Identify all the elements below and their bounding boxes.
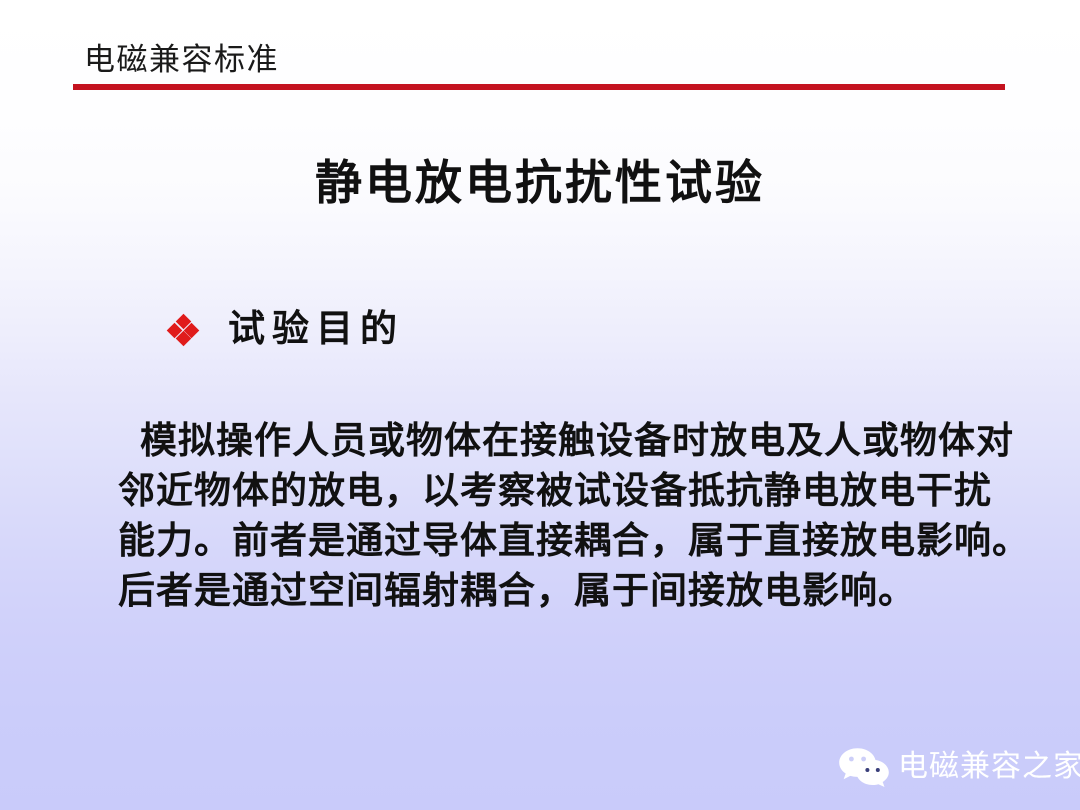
- body-text-line: 能力。前者是通过导体直接耦合，属于直接放电影响。: [118, 515, 998, 565]
- page-title: 静电放电抗扰性试验: [0, 155, 1080, 213]
- header-title: 电磁兼容标准: [84, 40, 279, 80]
- slide-canvas: 电磁兼容标准 静电放电抗扰性试验 试验目的 模拟操作人员或物体在接触设备时放电及…: [0, 0, 1080, 810]
- red-diamond-cluster-icon: [168, 315, 198, 345]
- slide-header: 电磁兼容标准: [0, 0, 1080, 100]
- watermark: 电磁兼容之家: [838, 742, 1080, 792]
- bullet-item-purpose: 试验目的: [168, 306, 404, 350]
- wechat-icon: [838, 746, 890, 788]
- bullet-item-label: 试验目的: [228, 306, 404, 350]
- watermark-label: 电磁兼容之家: [898, 748, 1080, 786]
- header-divider-rule: [73, 84, 1005, 90]
- body-text-line: 邻近物体的放电，以考察被试设备抵抗静电放电干扰: [118, 465, 998, 515]
- body-text-line: 后者是通过空间辐射耦合，属于间接放电影响。: [118, 565, 998, 615]
- body-text-line: 模拟操作人员或物体在接触设备时放电及人或物体对: [118, 415, 998, 465]
- body-paragraph: 模拟操作人员或物体在接触设备时放电及人或物体对 邻近物体的放电，以考察被试设备抵…: [118, 415, 998, 615]
